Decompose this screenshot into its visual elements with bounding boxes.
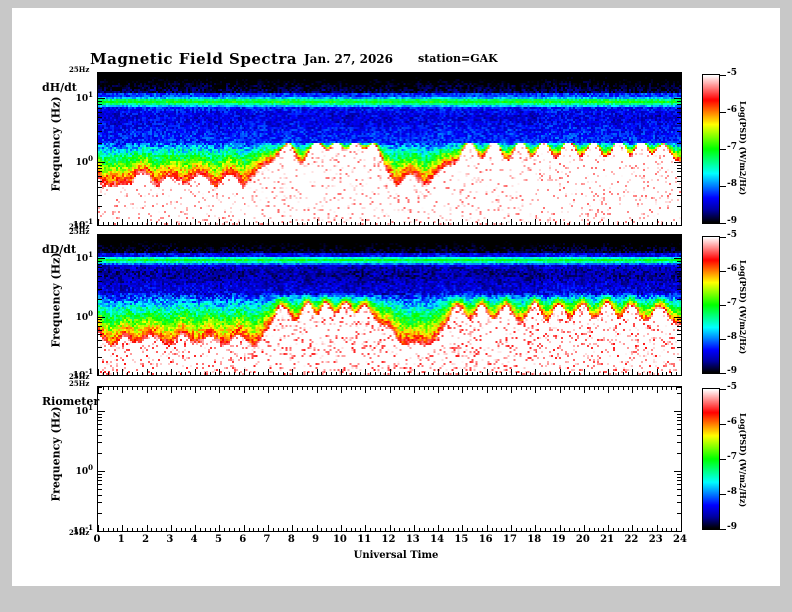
xtick-label: 8	[281, 534, 301, 545]
xtick-label: 17	[500, 534, 520, 545]
xtick-label: 12	[379, 534, 399, 545]
colorbar-tick-label: -7	[727, 142, 737, 152]
colorbar-dhdt	[702, 74, 720, 224]
colorbar-riometer	[702, 388, 720, 530]
colorbar-tick-label: -9	[727, 216, 737, 226]
xtick-label: 3	[160, 534, 180, 545]
panel-label-dddt: dD/dt	[42, 243, 76, 256]
spectrogram-panel-dhdt[interactable]	[97, 72, 682, 226]
xtick-label: 10	[330, 534, 350, 545]
colorbar-tick-label: -5	[727, 68, 737, 78]
colorbar-tick-label: -5	[727, 382, 737, 392]
nyquist-label-top: 25Hz	[69, 379, 89, 388]
colorbar-tick-label: -5	[727, 230, 737, 240]
colorbar-title: Log(PSD) (W/m2/Hz)	[738, 260, 748, 354]
spectrogram-image-dddt	[98, 235, 681, 375]
colorbar-tick-label: -7	[727, 298, 737, 308]
colorbar-title: Log(PSD) (W/m2/Hz)	[738, 413, 748, 507]
colorbar-ticks-riometer	[719, 389, 726, 529]
ytick-label: 100	[63, 154, 93, 168]
colorbar-tick-label: -8	[727, 179, 737, 189]
colorbar-tick-label: -8	[727, 332, 737, 342]
title-date: Jan. 27, 2026	[304, 52, 393, 66]
xtick-label: 4	[184, 534, 204, 545]
nyquist-label-top: 25Hz	[69, 65, 89, 74]
xtick-label: 2	[136, 534, 156, 545]
yaxis-title: Frequency (Hz)	[50, 412, 63, 502]
colorbar-title: Log(PSD) (W/m2/Hz)	[738, 101, 748, 195]
xtick-label: 21	[597, 534, 617, 545]
xtick-label: 0	[87, 534, 107, 545]
screenshot-root: Magnetic Field Spectra Jan. 27, 2026 sta…	[0, 0, 792, 612]
colorbar-tick-label: -9	[727, 366, 737, 376]
spectrogram-image-riometer	[98, 387, 681, 531]
plot-sheet: Magnetic Field Spectra Jan. 27, 2026 sta…	[12, 8, 780, 586]
spectrogram-panel-dddt[interactable]	[97, 234, 682, 376]
xtick-label: 22	[621, 534, 641, 545]
xtick-label: 23	[646, 534, 666, 545]
colorbar-tick-label: -8	[727, 487, 737, 497]
colorbar-ticks-dhdt	[719, 75, 726, 223]
yaxis-title: Frequency (Hz)	[50, 102, 63, 192]
xtick-label: 18	[524, 534, 544, 545]
xtick-label: 24	[670, 534, 690, 545]
colorbar-dddt	[702, 236, 720, 374]
xtick-label: 1	[111, 534, 131, 545]
nyquist-label-top: 25Hz	[69, 227, 89, 236]
xtick-label: 6	[233, 534, 253, 545]
xtick-label: 5	[208, 534, 228, 545]
xtick-label: 11	[354, 534, 374, 545]
page-title: Magnetic Field Spectra	[90, 50, 297, 68]
ytick-label: 100	[63, 309, 93, 323]
spectrogram-image-dhdt	[98, 73, 681, 225]
spectrogram-panel-riometer[interactable]	[97, 386, 682, 532]
xaxis-title: Universal Time	[12, 550, 780, 561]
colorbar-ticks-dddt	[719, 237, 726, 373]
xtick-label: 15	[451, 534, 471, 545]
yaxis-title: Frequency (Hz)	[50, 258, 63, 348]
colorbar-tick-label: -7	[727, 452, 737, 462]
xtick-label: 13	[403, 534, 423, 545]
colorbar-tick-label: -6	[727, 105, 737, 115]
colorbar-tick-label: -6	[727, 417, 737, 427]
xtick-label: 7	[257, 534, 277, 545]
ytick-label: 100	[63, 463, 93, 477]
xtick-label: 9	[306, 534, 326, 545]
title-station: station=GAK	[418, 52, 498, 65]
xtick-label: 14	[427, 534, 447, 545]
colorbar-tick-label: -6	[727, 264, 737, 274]
panel-label-riometer: Riometer	[42, 395, 99, 408]
xtick-label: 20	[573, 534, 593, 545]
colorbar-tick-label: -9	[727, 522, 737, 532]
xtick-label: 19	[549, 534, 569, 545]
xtick-label: 16	[476, 534, 496, 545]
panel-label-dhdt: dH/dt	[42, 81, 77, 94]
